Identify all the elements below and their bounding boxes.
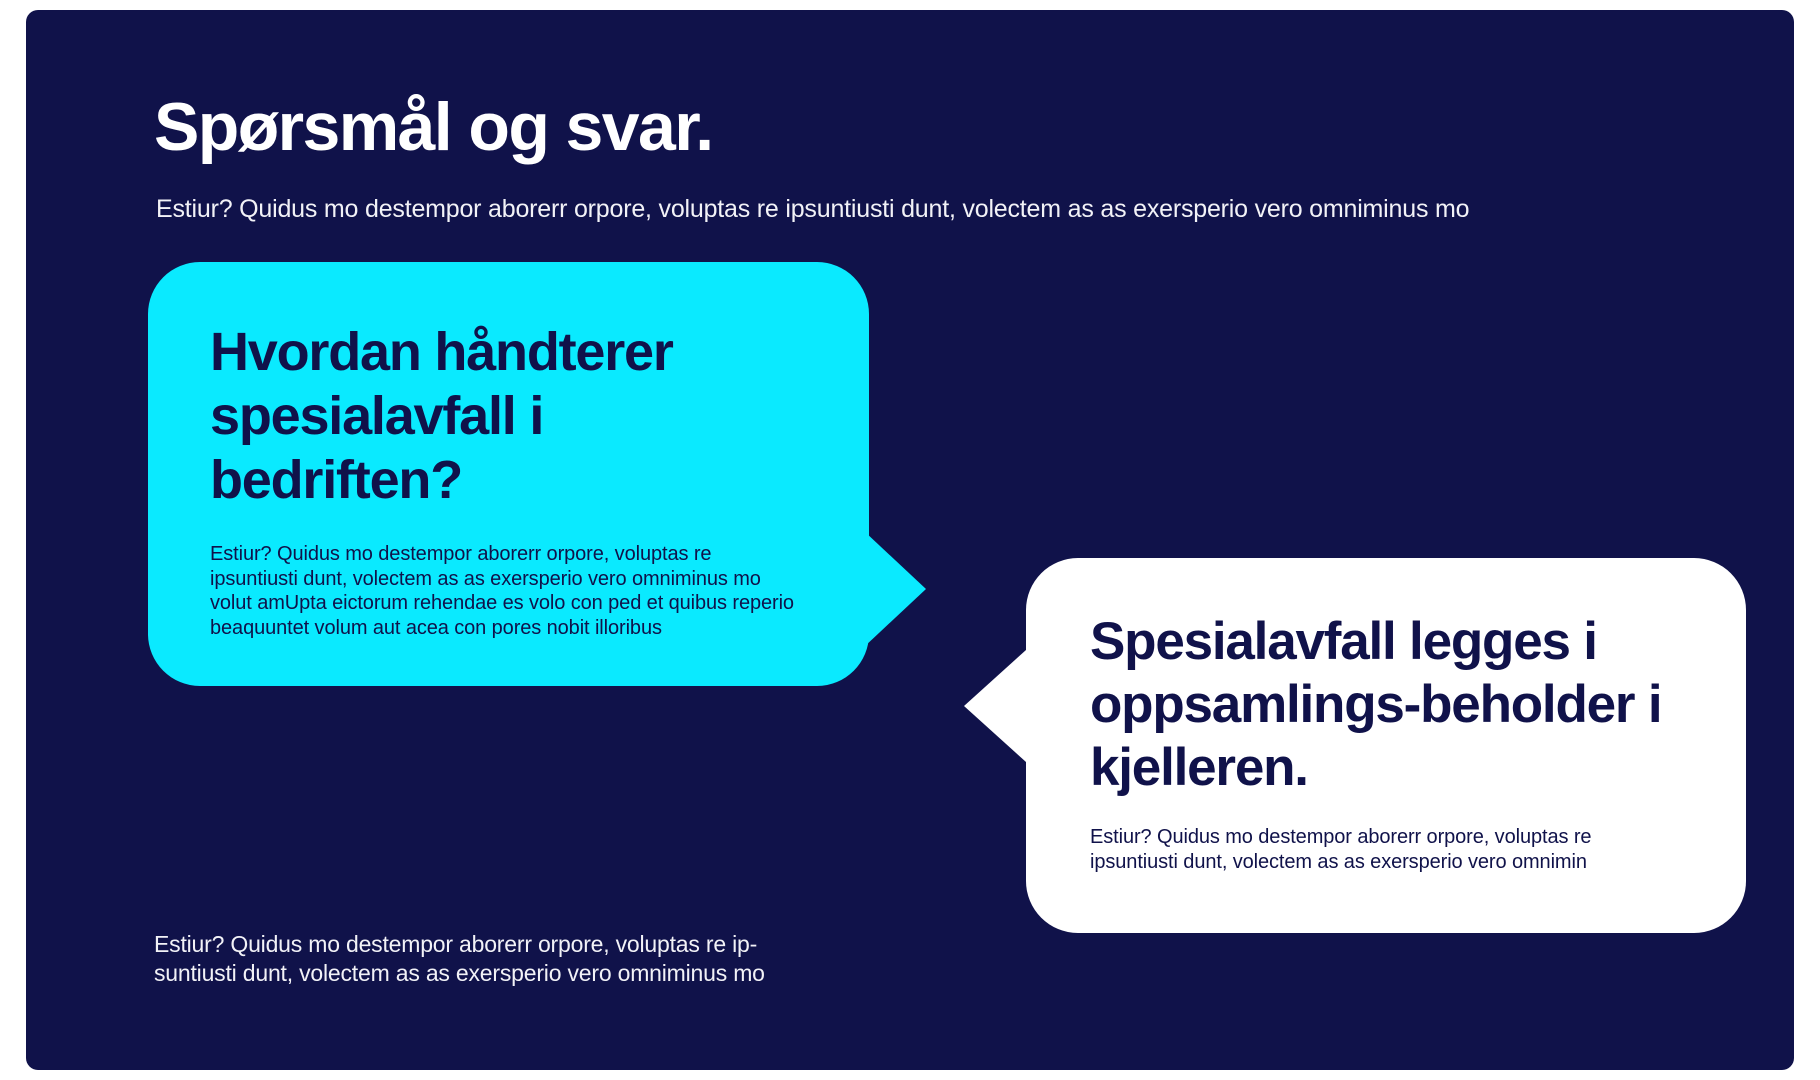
answer-body-text: Estiur? Quidus mo destempor aborerr orpo… [1090,825,1684,875]
question-body-text: Estiur? Quidus mo destempor aborerr orpo… [210,542,803,640]
question-bubble-tail-icon [864,531,926,647]
slide-frame: Spørsmål og svar. Estiur? Quidus mo dest… [26,10,1794,1070]
page-title: Spørsmål og svar. [154,88,713,166]
answer-heading: Spesialavfall legges i oppsamlings-behol… [1090,610,1684,799]
page-subtitle: Estiur? Quidus mo destempor aborerr orpo… [156,193,1469,225]
footer-note: Estiur? Quidus mo destempor aborerr orpo… [154,930,774,988]
answer-speech-bubble: Spesialavfall legges i oppsamlings-behol… [1026,558,1746,933]
answer-bubble-tail-icon [964,650,1026,762]
question-speech-bubble: Hvordan håndterer spesialavfall i bedrif… [148,262,869,686]
question-heading: Hvordan håndterer spesialavfall i bedrif… [210,320,803,512]
